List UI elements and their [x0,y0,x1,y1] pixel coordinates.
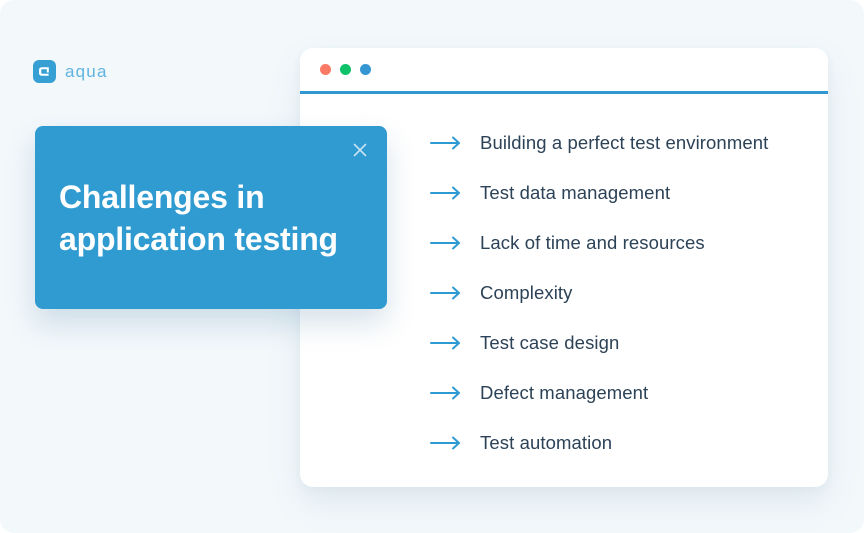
list-item-label: Building a perfect test environment [480,132,768,154]
arrow-right-icon [430,286,462,300]
arrow-right-icon [430,186,462,200]
list-item-label: Test data management [480,182,670,204]
page-canvas: aqua Building a perfect test environment [0,0,864,533]
brand-name: aqua [65,62,108,82]
window-close-dot[interactable] [320,64,331,75]
list-item[interactable]: Test automation [300,418,828,468]
arrow-right-icon [430,386,462,400]
close-icon[interactable] [349,139,371,161]
arrow-right-icon [430,236,462,250]
window-titlebar [300,48,828,91]
list-item-label: Defect management [480,382,648,404]
list-item[interactable]: Test case design [300,318,828,368]
brand-logo: aqua [33,60,108,83]
window-maximize-dot[interactable] [360,64,371,75]
arrow-right-icon [430,136,462,150]
list-item-label: Test automation [480,432,612,454]
list-item[interactable]: Defect management [300,368,828,418]
promo-card-title: Challenges inapplication testing [59,176,379,260]
promo-card: Challenges inapplication testing [35,126,387,309]
arrow-right-icon [430,436,462,450]
window-minimize-dot[interactable] [340,64,351,75]
list-item-label: Lack of time and resources [480,232,705,254]
list-item-label: Test case design [480,332,619,354]
aqua-logo-icon [33,60,56,83]
promo-title-line-1: Challenges in [59,179,264,215]
arrow-right-icon [430,336,462,350]
list-item-label: Complexity [480,282,573,304]
promo-title-line-2: application testing [59,221,338,257]
